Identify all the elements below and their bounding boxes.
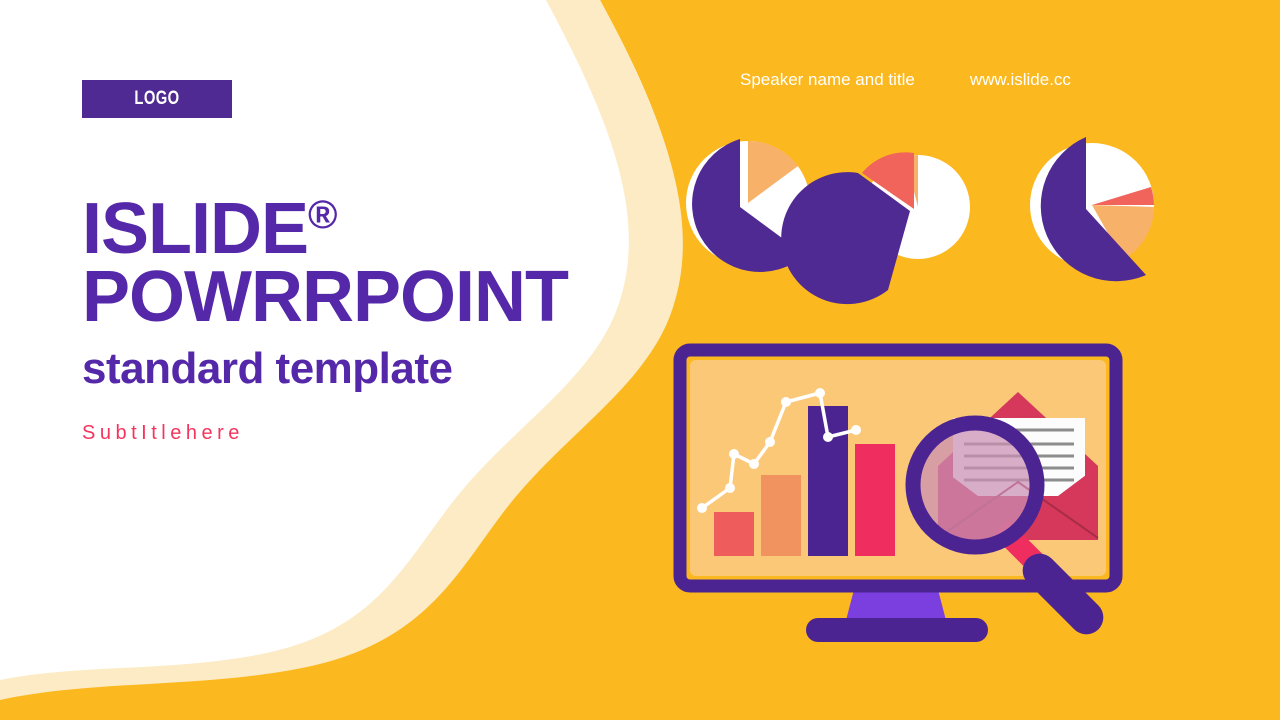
- top-meta-bar: Speaker name and title www.islide.cc: [740, 70, 1071, 90]
- page-subtitle-small: SubtItlehere: [82, 422, 642, 445]
- line-point-9: [851, 425, 861, 435]
- bar-4: [855, 444, 895, 556]
- bar-1: [714, 512, 754, 556]
- line-point-6: [781, 397, 791, 407]
- line-point-2: [725, 483, 735, 493]
- website-link[interactable]: www.islide.cc: [970, 70, 1071, 90]
- left-content-panel: LOGO ISLIDE® POWRRPOINT standard templat…: [82, 0, 642, 720]
- line-point-4: [749, 459, 759, 469]
- line-point-5: [765, 437, 775, 447]
- monitor-stand-base: [806, 618, 988, 642]
- pie-chart-3: [1030, 137, 1154, 281]
- line-point-1: [697, 503, 707, 513]
- pie-charts-group: [630, 105, 1190, 315]
- page-subtitle-heading: standard template: [82, 344, 642, 394]
- monitor-illustration: [660, 330, 1180, 670]
- slide-canvas: Speaker name and title www.islide.cc: [0, 0, 1280, 720]
- logo-label: LOGO: [134, 88, 179, 110]
- registered-trademark-icon: ®: [308, 193, 336, 237]
- bar-2: [761, 475, 801, 556]
- page-title-line2: POWRRPOINT: [82, 263, 642, 331]
- line-point-7: [815, 388, 825, 398]
- line-point-8: [823, 432, 833, 442]
- pie-chart-2: [781, 152, 970, 304]
- line-point-3: [729, 449, 739, 459]
- logo-badge[interactable]: LOGO: [82, 80, 232, 118]
- speaker-name-label: Speaker name and title: [740, 70, 915, 90]
- title-block: ISLIDE® POWRRPOINT standard template Sub…: [82, 195, 642, 445]
- page-title-line1: ISLIDE®: [82, 195, 642, 263]
